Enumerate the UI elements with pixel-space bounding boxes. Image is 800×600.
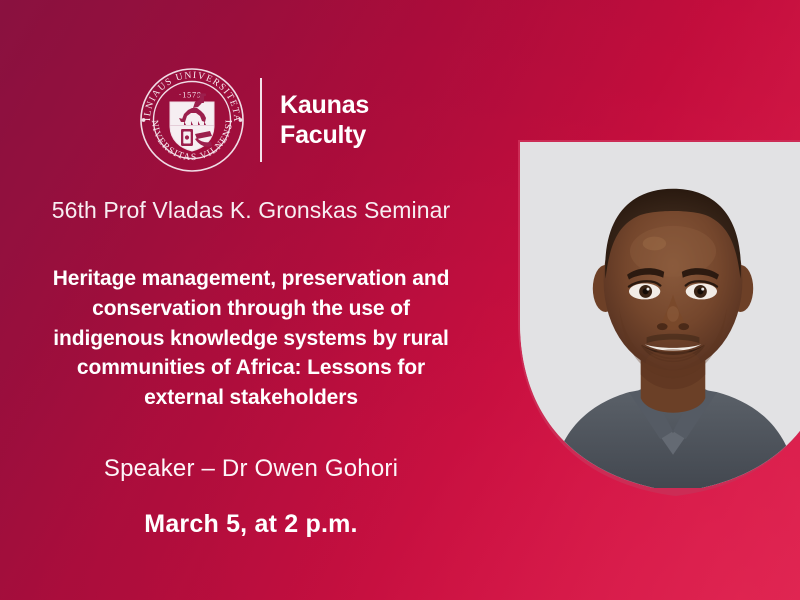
faculty-wordmark: Kaunas Faculty (280, 90, 369, 151)
wordmark-line-2: Faculty (280, 120, 369, 151)
seminar-poster: VILNIAUS UNIVERSITETAS UNIVERSITAS VILNE… (0, 0, 800, 600)
speaker-name: Speaker – Dr Owen Gohori (14, 455, 488, 483)
vilnius-university-seal-icon: VILNIAUS UNIVERSITETAS UNIVERSITAS VILNE… (136, 64, 248, 176)
university-logo-lockup: VILNIAUS UNIVERSITETAS UNIVERSITAS VILNE… (136, 64, 369, 176)
wordmark-line-1: Kaunas (280, 90, 369, 121)
event-datetime: March 5, at 2 p.m. (14, 510, 488, 539)
seminar-label: 56th Prof Vladas K. Gronskas Seminar (14, 196, 488, 226)
speaker-portrait-shield (504, 124, 800, 496)
event-content: 56th Prof Vladas K. Gronskas Seminar Her… (0, 196, 502, 539)
talk-title: Heritage management, preservation and co… (14, 264, 488, 413)
logo-divider (260, 78, 262, 162)
